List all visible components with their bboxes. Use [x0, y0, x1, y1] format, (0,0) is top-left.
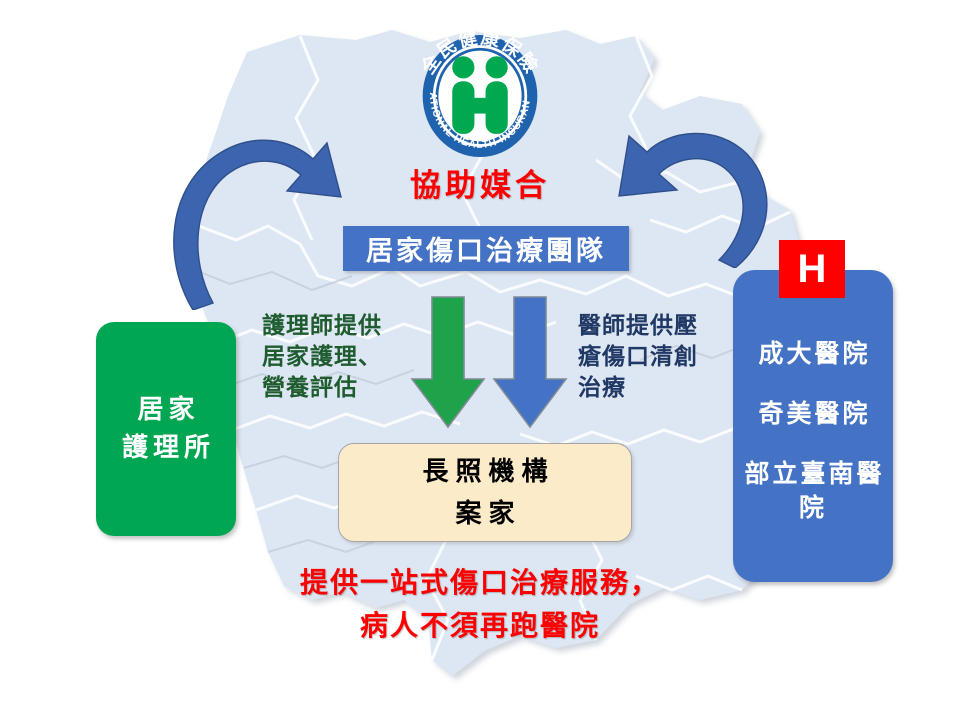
doctor-service-note: 醫師提供壓瘡傷口清創治療	[578, 310, 708, 403]
diagram-canvas: 全民健康保險 NATIONAL HEALTH INSURANCE 協助媒合 居家…	[0, 0, 960, 720]
home-care-line-2: 護理所	[117, 429, 215, 467]
home-wound-care-team-banner: 居家傷口治療團隊	[343, 226, 629, 271]
assist-matching-label: 協助媒合	[0, 160, 960, 205]
hospital-item-1: 成大醫院	[755, 338, 870, 372]
hospital-h-glyph: H	[798, 249, 827, 289]
home-care-line-1: 居家	[132, 391, 199, 429]
slogan-line-2: 病人不須再跑醫院	[0, 605, 960, 648]
bottom-slogan: 提供一站式傷口治療服務， 病人不須再跑醫院	[0, 562, 960, 648]
down-arrow-green-icon	[410, 295, 486, 430]
long-term-care-institution-card: 長照機構 案家	[338, 443, 632, 542]
down-arrow-blue-icon	[492, 295, 568, 430]
hospital-item-3: 部立臺南醫院	[733, 458, 893, 526]
curved-arrow-left-icon	[155, 125, 370, 310]
national-health-insurance-logo: 全民健康保險 NATIONAL HEALTH INSURANCE	[406, 22, 554, 170]
ltc-line-1: 長照機構	[415, 451, 554, 493]
home-nursing-institution-card: 居家 護理所	[96, 322, 236, 536]
nurse-service-note: 護理師提供居家護理、營養評估	[262, 310, 402, 403]
hospitals-card: 成大醫院 奇美醫院 部立臺南醫院	[733, 270, 893, 582]
hospital-h-badge-icon: H	[779, 240, 845, 298]
slogan-line-1: 提供一站式傷口治療服務，	[0, 562, 960, 605]
hospital-item-2: 奇美醫院	[755, 398, 870, 432]
ltc-line-2: 案家	[448, 493, 521, 535]
team-banner-label: 居家傷口治療團隊	[366, 229, 606, 268]
